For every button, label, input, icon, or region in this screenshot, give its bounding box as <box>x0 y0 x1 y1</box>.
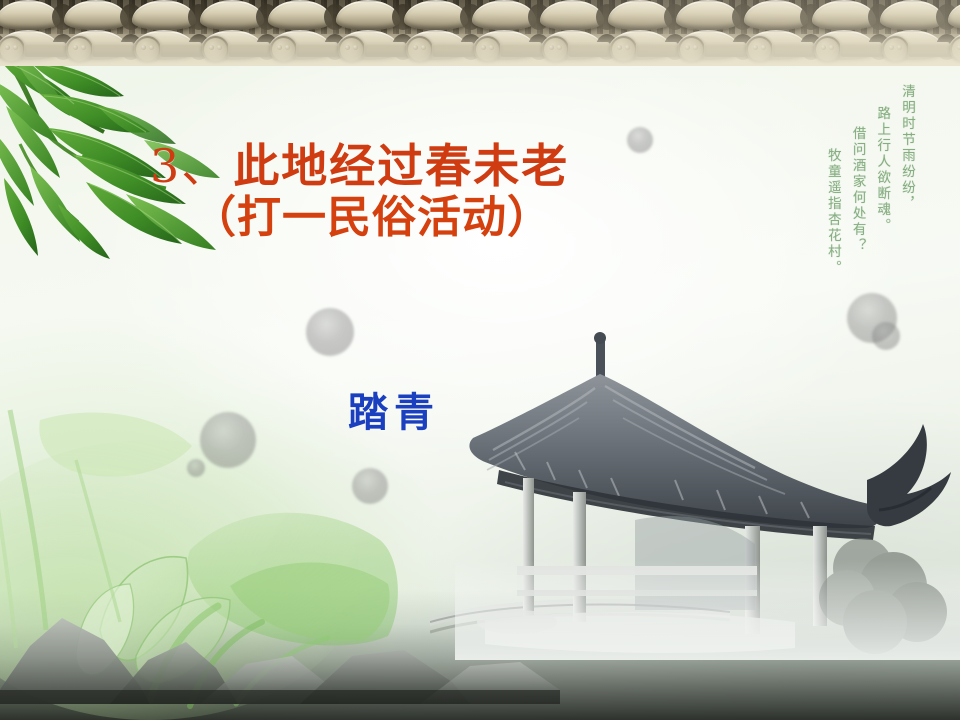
poem-column-3: 借问酒家何处有？ <box>847 126 867 254</box>
mist-bubble <box>187 459 205 477</box>
mist-bubble <box>306 308 354 356</box>
roof-haze <box>0 0 960 66</box>
slide-canvas: 3、此地经过春未老 （打一民俗活动） 踏青 清明时节雨纷纷， 路上行人欲断魂。 … <box>0 0 960 720</box>
mist-bubble <box>352 468 388 504</box>
mist-bubble <box>872 322 900 350</box>
mist-bubble <box>200 412 256 468</box>
riddle-answer: 踏青 <box>348 380 440 438</box>
riddle-number: 3、 <box>150 139 233 193</box>
riddle-title-block: 3、此地经过春未老 （打一民俗活动） <box>150 140 710 245</box>
vertical-poem: 清明时节雨纷纷， 路上行人欲断魂。 借问酒家何处有？ 牧童遥指杏花村。 <box>822 84 916 276</box>
poem-column-1: 清明时节雨纷纷， <box>896 84 916 212</box>
riddle-title-line1: 3、此地经过春未老 <box>150 140 710 192</box>
roof-tile-border <box>0 0 960 66</box>
poem-column-2: 路上行人欲断魂。 <box>872 106 892 234</box>
chinese-garden-pavilion <box>455 330 960 660</box>
poem-column-4: 牧童遥指杏花村。 <box>822 148 842 276</box>
riddle-hint-line: （打一民俗活动） <box>192 192 710 245</box>
riddle-title-text: 此地经过春未老 <box>233 139 569 193</box>
